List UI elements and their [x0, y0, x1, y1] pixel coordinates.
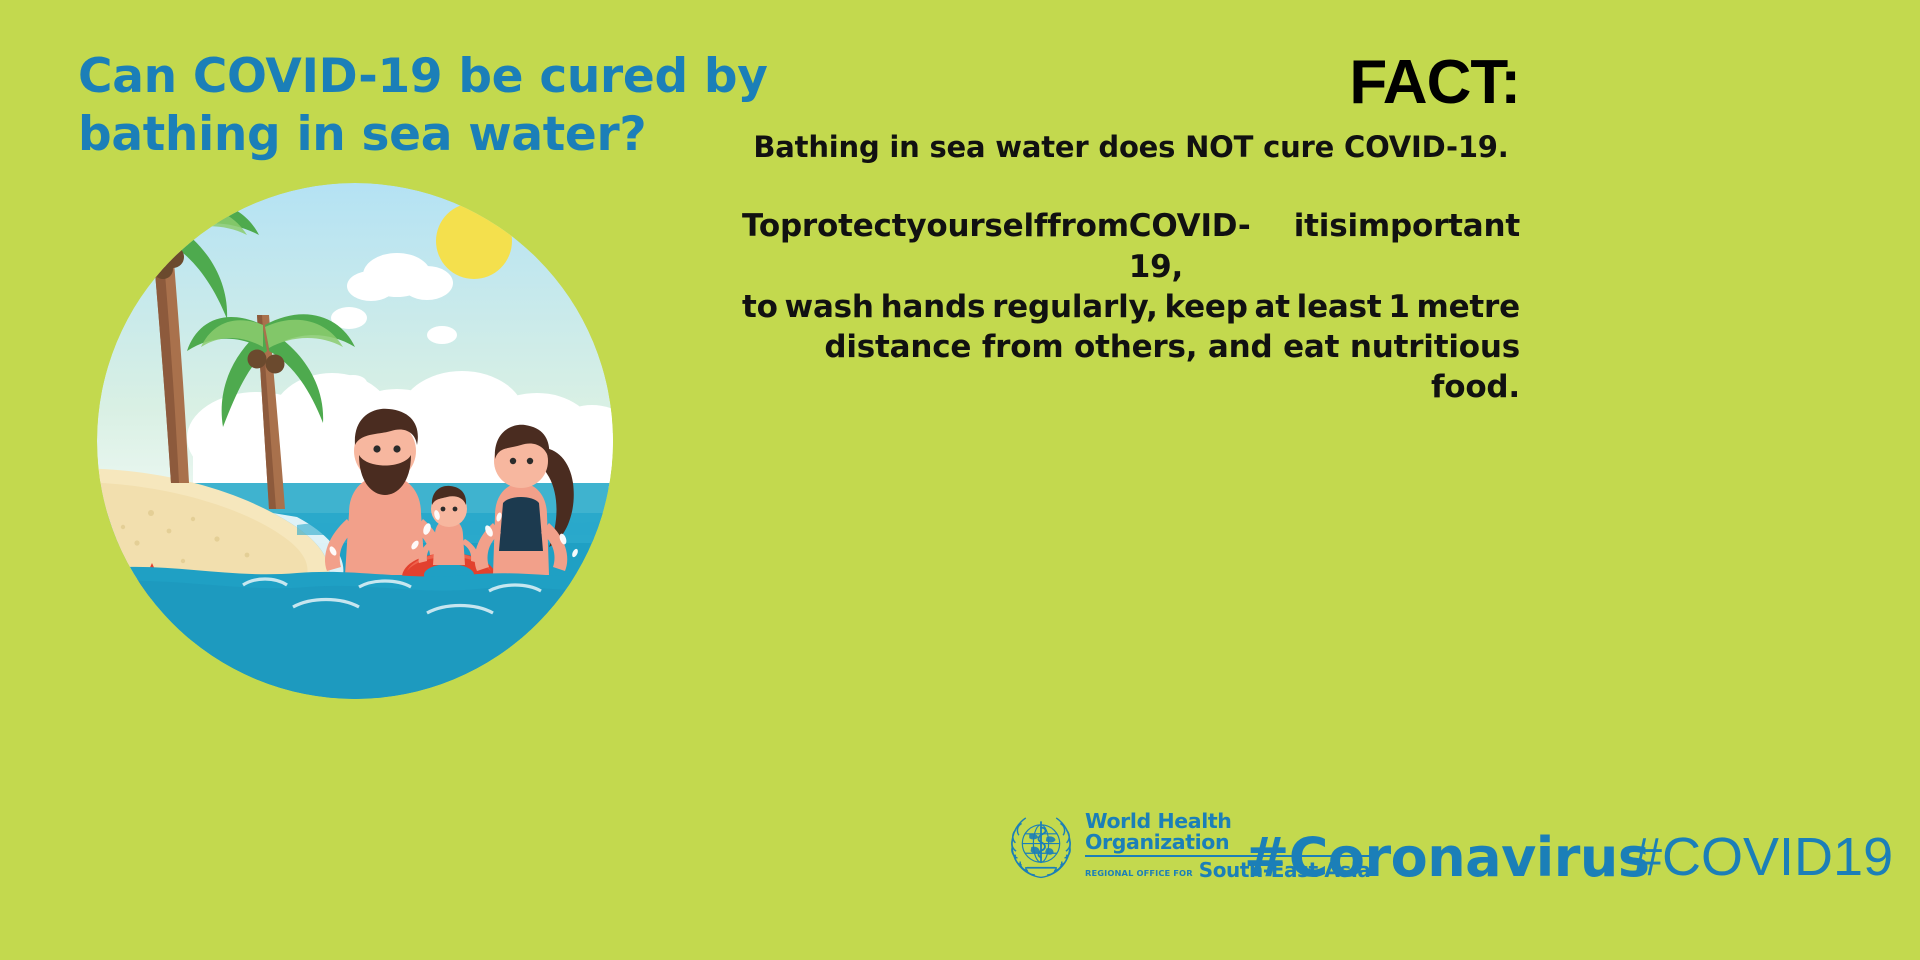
word: hands: [881, 287, 986, 327]
word: To: [742, 206, 780, 287]
word: to: [742, 287, 778, 327]
word: least: [1297, 287, 1382, 327]
word: protect: [780, 206, 906, 287]
hashtag-covid19[interactable]: #COVID19: [1632, 826, 1893, 888]
word: 1: [1388, 287, 1409, 327]
hashtag-coronavirus[interactable]: #Coronavirus: [1244, 826, 1650, 889]
swimsuit: [499, 497, 543, 551]
word: metre: [1416, 287, 1519, 327]
sun-icon: [436, 203, 512, 279]
poster-canvas: Can COVID-19 be cured by bathing in sea …: [0, 0, 1920, 960]
who-emblem-icon: [1006, 811, 1076, 883]
fact-paragraph-line-2: to wash hands regularly, keep at least 1…: [742, 287, 1520, 327]
beach-family-swimming-illustration: [97, 183, 613, 699]
headline-line-1: Can COVID-19 be cured by: [78, 49, 768, 104]
illustration-svg: [97, 183, 613, 699]
fact-label: FACT:: [1349, 52, 1520, 114]
fact-paragraph: To protect yourself from COVID-19, it is…: [742, 206, 1520, 407]
word: COVID-19,: [1129, 206, 1294, 287]
word: regularly,: [992, 287, 1158, 327]
fact-paragraph-line-3: distance from others, and eat nutritious…: [742, 327, 1520, 408]
who-region-prefix: REGIONAL OFFICE FOR: [1085, 869, 1193, 877]
word: it: [1294, 206, 1319, 287]
word: is: [1319, 206, 1348, 287]
word: keep: [1165, 287, 1248, 327]
fact-paragraph-line-1: To protect yourself from COVID-19, it is…: [742, 206, 1520, 287]
page-title: Can COVID-19 be cured by bathing in sea …: [78, 48, 838, 164]
fact-body: Bathing in sea water does NOT cure COVID…: [742, 128, 1520, 408]
word: important: [1347, 206, 1520, 287]
word: from: [1047, 206, 1129, 287]
fact-lead-line: Bathing in sea water does NOT cure COVID…: [742, 128, 1520, 166]
word: at: [1255, 287, 1290, 327]
word: yourself: [906, 206, 1047, 287]
footer: World Health Organization REGIONAL OFFIC…: [0, 806, 1920, 926]
headline-line-2: bathing in sea water?: [78, 106, 838, 164]
word: wash: [785, 287, 874, 327]
